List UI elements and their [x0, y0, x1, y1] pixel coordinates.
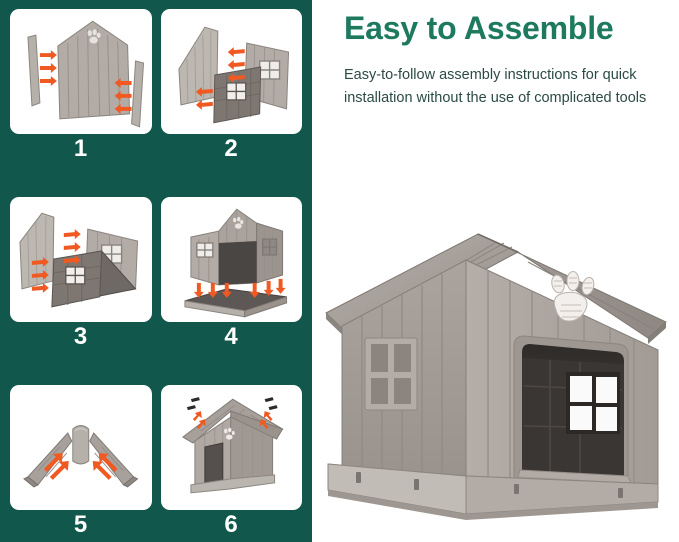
step-number-5: 5	[74, 512, 88, 538]
side-rail-right	[132, 61, 144, 127]
step-number-3: 3	[74, 324, 88, 350]
side-rail-left	[28, 35, 40, 106]
page-subtitle: Easy-to-follow assembly instructions for…	[344, 64, 669, 110]
product-photo	[318, 218, 676, 538]
step-illustration-1	[10, 9, 152, 134]
step-illustration-3	[10, 197, 152, 322]
step-illustration-2	[161, 9, 303, 134]
step-cell-5: 5	[10, 385, 152, 538]
ridge-cap	[73, 426, 89, 464]
assembled-walls	[190, 209, 282, 285]
step-illustration-4	[161, 197, 303, 322]
step-number-4: 4	[224, 324, 238, 350]
step-illustration-5	[10, 385, 152, 510]
infographic-root: 1	[0, 0, 679, 542]
step-number-6: 6	[224, 512, 238, 538]
step-cell-4: 4	[161, 197, 303, 350]
copy-block: Easy to Assemble Easy-to-follow assembly…	[344, 8, 669, 110]
step-row-2: 3	[10, 197, 302, 350]
step-row-3: 5	[10, 385, 302, 538]
front-wall	[466, 260, 658, 496]
step-cell-2: 2	[161, 9, 303, 162]
gable-wall-panel	[20, 213, 54, 289]
side-window-four-pane	[365, 338, 417, 410]
step-row-1: 1	[10, 9, 302, 162]
step-number-1: 1	[74, 136, 88, 162]
roof-panel-left	[24, 433, 72, 487]
step-cell-1: 1	[10, 9, 152, 162]
roof-panel-right	[90, 433, 138, 487]
side-wall-left	[342, 260, 466, 480]
rear-window-four-pane	[566, 372, 620, 434]
step-cell-3: 3	[10, 197, 152, 350]
step-illustration-6	[161, 385, 303, 510]
side-wall-front	[213, 67, 260, 123]
assembly-steps-panel: 1	[0, 0, 312, 542]
gable-wall-panel	[58, 21, 130, 119]
step-number-2: 2	[224, 136, 238, 162]
step-cell-6: 6	[161, 385, 303, 538]
page-title: Easy to Assemble	[344, 8, 669, 48]
doorway	[514, 336, 636, 496]
